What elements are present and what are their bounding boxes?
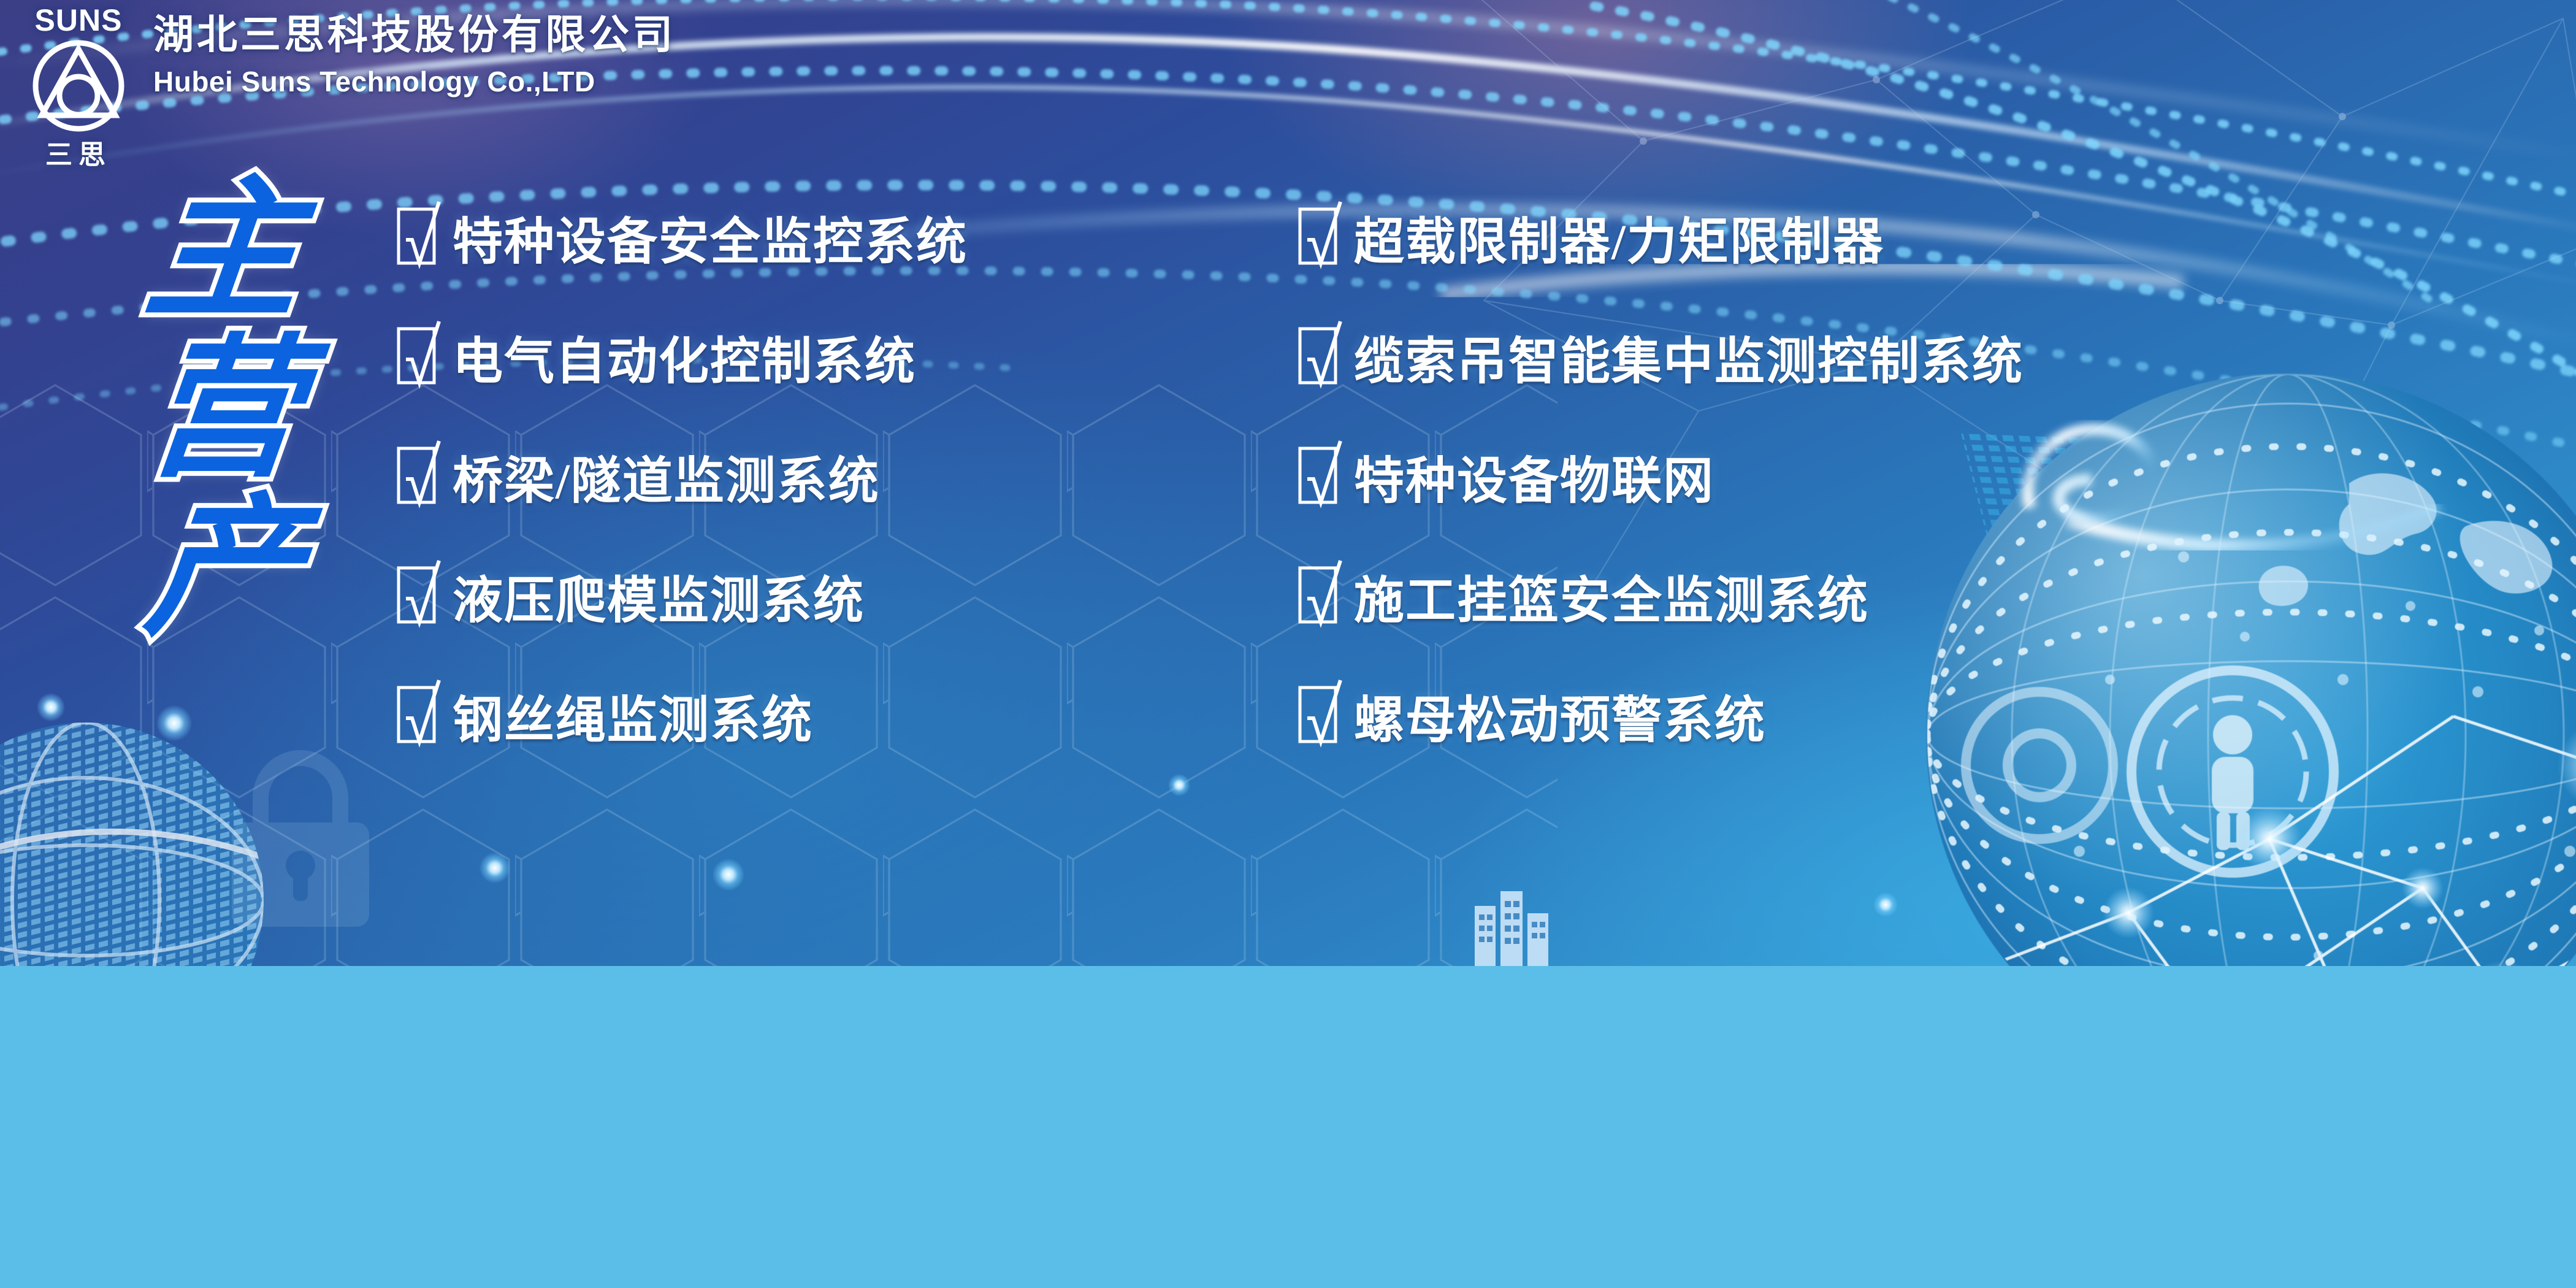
glow-dot xyxy=(713,859,744,891)
headline-char-1: 主 xyxy=(140,178,309,322)
product-label: 特种设备安全监控系统 xyxy=(453,201,968,274)
glow-dot xyxy=(1168,774,1190,796)
product-item-left-1: 特种设备安全监控系统 xyxy=(397,207,1299,266)
glow-dot xyxy=(1873,892,1898,917)
product-label: 液压爬模监测系统 xyxy=(453,559,865,632)
product-label: 特种设备物联网 xyxy=(1354,440,1714,513)
logo-cn-text: 三思 xyxy=(13,132,143,172)
product-label: 桥梁/隧道监测系统 xyxy=(453,440,880,513)
banner-page: SUNS 三思 湖北三思科技股份有限公司 Hubei Suns Technolo… xyxy=(0,0,2576,1288)
checkbox-checked-icon xyxy=(397,328,437,385)
product-item-right-2: 缆索吊智能集中监测控制系统 xyxy=(1299,327,2298,386)
product-label: 钢丝绳监测系统 xyxy=(453,679,813,752)
suns-logo: SUNS 三思 xyxy=(13,2,143,169)
product-label: 电气自动化控制系统 xyxy=(453,320,916,393)
product-item-left-2: 电气自动化控制系统 xyxy=(397,327,1299,386)
company-name-cn: 湖北三思科技股份有限公司 xyxy=(153,11,676,59)
product-list: 特种设备安全监控系统 超载限制器/力矩限制器 xyxy=(397,207,2298,745)
product-item-right-3: 特种设备物联网 xyxy=(1299,447,2298,505)
product-item-left-5: 钢丝绳监测系统 xyxy=(397,686,1299,745)
headline-vertical: 主 营 产 xyxy=(108,178,341,640)
circle-triangle-mark-icon xyxy=(29,37,128,135)
page-body-area xyxy=(0,966,2576,1288)
glow-dot xyxy=(480,853,510,883)
product-item-left-3: 桥梁/隧道监测系统 xyxy=(397,447,1299,505)
product-item-right-1: 超载限制器/力矩限制器 xyxy=(1299,207,2298,266)
product-item-left-4: 液压爬模监测系统 xyxy=(397,566,1299,625)
checkbox-checked-icon xyxy=(397,447,437,505)
product-item-right-4: 施工挂篮安全监测系统 xyxy=(1299,566,2298,625)
logo-wordmark: SUNS xyxy=(13,5,143,36)
product-label: 螺母松动预警系统 xyxy=(1354,679,1766,752)
checkbox-checked-icon xyxy=(1299,447,1338,505)
product-label: 缆索吊智能集中监测控制系统 xyxy=(1354,320,2024,393)
headline-char-2: 营 xyxy=(140,337,309,481)
checkbox-checked-icon xyxy=(1299,567,1338,624)
company-name-en: Hubei Suns Technology Co.,LTD xyxy=(153,65,676,98)
checkbox-checked-icon xyxy=(397,208,437,266)
checkbox-checked-icon xyxy=(1299,686,1338,744)
checkbox-checked-icon xyxy=(397,686,437,744)
company-name-block: 湖北三思科技股份有限公司 Hubei Suns Technology Co.,L… xyxy=(153,11,676,98)
checkbox-checked-icon xyxy=(397,567,437,624)
hero-banner: SUNS 三思 湖北三思科技股份有限公司 Hubei Suns Technolo… xyxy=(0,0,2576,968)
checkbox-checked-icon xyxy=(1299,328,1338,385)
headline-char-3: 产 xyxy=(140,496,309,640)
product-item-right-5: 螺母松动预警系统 xyxy=(1299,686,2298,745)
building-icon xyxy=(1469,885,1554,968)
product-label: 施工挂篮安全监测系统 xyxy=(1354,559,1869,632)
padlock-icon xyxy=(202,732,399,934)
checkbox-checked-icon xyxy=(1299,208,1338,266)
product-label: 超载限制器/力矩限制器 xyxy=(1354,201,1884,274)
